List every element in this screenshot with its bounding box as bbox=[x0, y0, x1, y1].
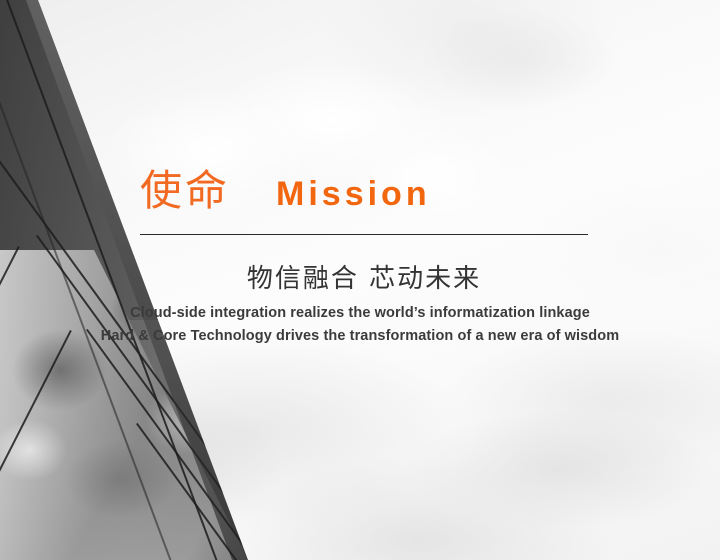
title-chinese: 使命 bbox=[140, 170, 230, 212]
subtitle-chinese: 物信融合 芯动未来 bbox=[140, 258, 588, 295]
tagline-line-2: Hard & Core Technology drives the transf… bbox=[60, 325, 660, 348]
tagline-line-1: Cloud-side integration realizes the worl… bbox=[60, 302, 660, 325]
mission-title: 使命 Mission bbox=[140, 170, 588, 212]
title-divider bbox=[140, 234, 588, 235]
slide-content: 使命 Mission 物信融合 芯动未来 Cloud-side integrat… bbox=[0, 0, 720, 560]
title-english: Mission bbox=[276, 177, 431, 211]
mission-slide: 使命 Mission 物信融合 芯动未来 Cloud-side integrat… bbox=[0, 0, 720, 560]
mission-tagline: Cloud-side integration realizes the worl… bbox=[60, 302, 660, 348]
